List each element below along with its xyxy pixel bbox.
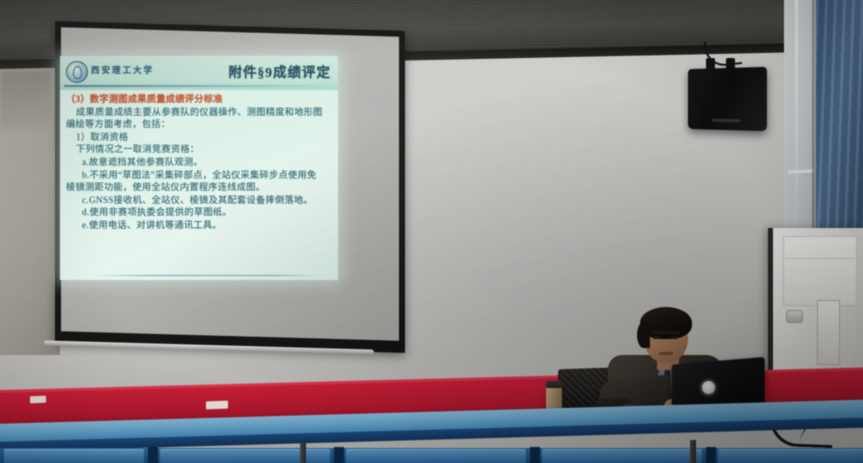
slide-line: a.故意遮挡其他参赛队观测。 bbox=[66, 156, 332, 169]
slide-line: c.GNSS接收机、全站仪、棱镜及其配套设备摔倒落地。 bbox=[66, 194, 332, 207]
laptop-brand-logo-icon bbox=[702, 381, 715, 394]
presenter-eye-right bbox=[671, 336, 678, 339]
presenter-eye-left bbox=[653, 336, 660, 339]
desk-gap bbox=[148, 447, 158, 463]
ac-panel-seam bbox=[785, 258, 855, 259]
slide-line: 成果质量成绩主要从参赛队的仪器操作、测图精度和地形图 bbox=[66, 106, 332, 119]
desk-panel bbox=[718, 449, 863, 463]
projected-slide: 西安理工大学 附件§9成绩评定 （3）数字测图成果质量成绩评分标准成果质量成绩主… bbox=[60, 56, 338, 280]
slide-line: b.不采用“草图法”采集碎部点，全站仪采集碎步点使用免 bbox=[66, 169, 332, 182]
desk-leg bbox=[690, 440, 696, 463]
slide-body: （3）数字测图成果质量成绩评分标准成果质量成绩主要从参赛队的仪器操作、测图精度和… bbox=[66, 93, 332, 270]
wall-speaker bbox=[688, 67, 767, 131]
thermos-cup-lid bbox=[546, 381, 562, 388]
ac-knob[interactable] bbox=[786, 310, 803, 323]
university-crest-icon bbox=[66, 61, 88, 83]
lecture-hall-photo: 西安理工大学 附件§9成绩评定 （3）数字测图成果质量成绩评分标准成果质量成绩主… bbox=[0, 0, 863, 463]
desk-gap bbox=[530, 447, 540, 463]
desk-panel bbox=[542, 449, 702, 463]
slide-line: （3）数字测图成果质量成绩评分标准 bbox=[66, 93, 332, 106]
slide-line: 1）取消资格 bbox=[66, 131, 332, 144]
slide-header-band: 西安理工大学 附件§9成绩评定 bbox=[60, 56, 338, 90]
presenter-mouth bbox=[659, 352, 673, 355]
desk-leg bbox=[300, 443, 306, 463]
presenter-hair-side bbox=[637, 322, 650, 348]
slide-org-name: 西安理工大学 bbox=[91, 64, 154, 76]
desk-panel bbox=[4, 449, 144, 463]
desk-gap bbox=[706, 447, 716, 463]
slide-title: 附件§9成绩评定 bbox=[229, 61, 332, 81]
desk-gap bbox=[334, 447, 344, 463]
slide-line: 棱镜测距功能，使用全站仪内置程序连线成图。 bbox=[66, 181, 332, 194]
paper-sheet bbox=[206, 401, 228, 410]
desk-panel bbox=[346, 449, 526, 463]
slide-line: 下列情况之一取消竞赛资格： bbox=[66, 143, 332, 156]
slide-line: e.使用电话、对讲机等通讯工具。 bbox=[66, 219, 332, 232]
wall-stain bbox=[0, 70, 52, 130]
presenter-brow bbox=[652, 331, 680, 334]
slide-line: 编绘等方面考虑，包括： bbox=[66, 118, 332, 131]
slide-bottom-rule bbox=[94, 275, 318, 276]
paper-sheet bbox=[30, 396, 46, 404]
slide-line: d.使用非赛项执委会提供的草图纸。 bbox=[66, 206, 332, 219]
ac-top-panel bbox=[783, 236, 857, 306]
ac-display-housing bbox=[817, 300, 840, 365]
